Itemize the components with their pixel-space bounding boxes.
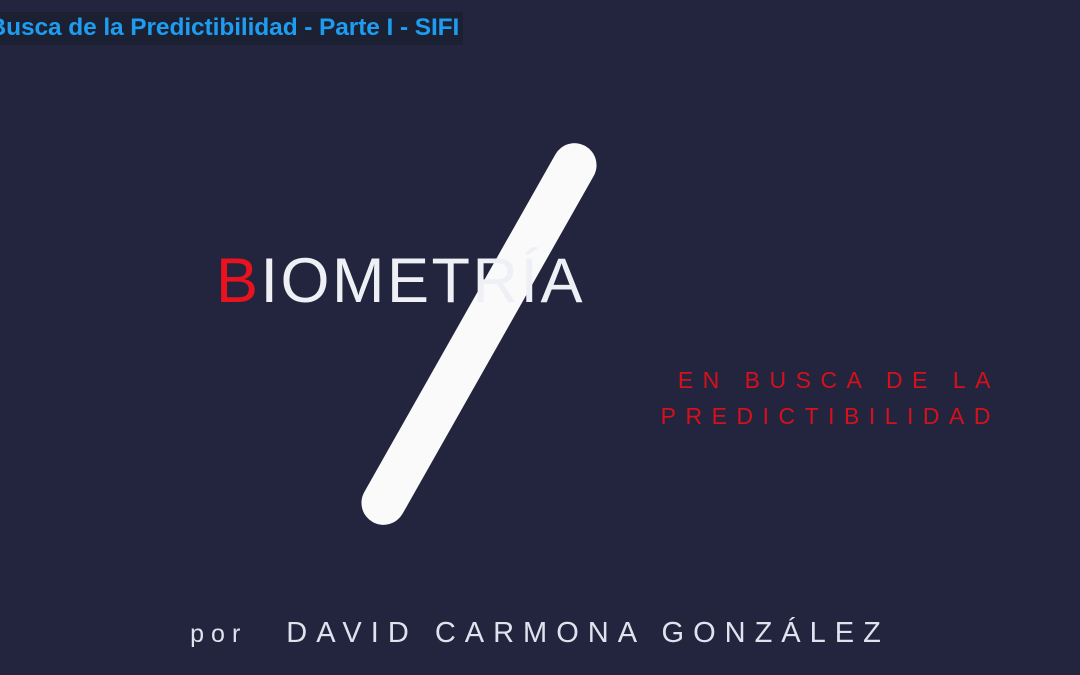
slide-wordmark: BIOMETRÍA bbox=[216, 247, 585, 315]
subtitle-line-1: EN BUSCA DE LA bbox=[560, 362, 1000, 398]
slide-subtitle: EN BUSCA DE LA PREDICTIBILIDAD bbox=[560, 362, 1000, 434]
wordmark-rest: IOMETRÍA bbox=[261, 246, 586, 316]
subtitle-line-2: PREDICTIBILIDAD bbox=[560, 398, 1000, 434]
byline-prefix: por bbox=[190, 620, 286, 648]
wordmark-accent-letter: B bbox=[216, 246, 261, 316]
diagonal-slash-decoration bbox=[353, 135, 604, 533]
slide-byline: por DAVID CARMONA GONZÁLEZ bbox=[0, 614, 1080, 653]
byline-author-name: DAVID CARMONA GONZÁLEZ bbox=[286, 617, 890, 649]
presentation-slide: BIOMETRÍA EN BUSCA DE LA PREDICTIBILIDAD… bbox=[0, 0, 1080, 675]
slide-viewer: BIOMETRÍA EN BUSCA DE LA PREDICTIBILIDAD… bbox=[0, 0, 1080, 675]
